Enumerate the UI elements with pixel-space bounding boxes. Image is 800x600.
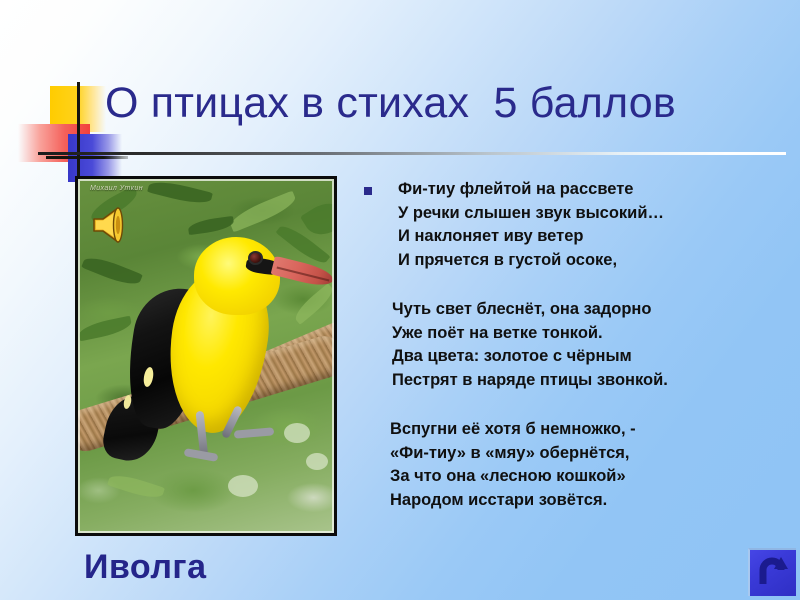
motif-vertical-bar: [77, 82, 80, 178]
bird-photo: Михаил Уткин: [75, 176, 337, 536]
return-button[interactable]: [748, 548, 796, 596]
square-bullet-icon: [364, 187, 372, 195]
poem-block: Фи-тиу флейтой на рассвете У речки слыше…: [364, 178, 794, 512]
bird-foot: [234, 427, 275, 438]
photo-caption: Иволга: [84, 548, 206, 587]
photo-watermark: Михаил Уткин: [90, 185, 143, 192]
decorative-motif: [18, 82, 118, 174]
return-arrow-icon: [750, 550, 794, 594]
bird-foot: [184, 448, 219, 462]
speaker-icon[interactable]: [90, 205, 136, 245]
title-divider: [38, 152, 786, 155]
poem-stanza: Фи-тиу флейтой на рассвете У речки слыше…: [364, 178, 794, 272]
bird-head: [194, 237, 280, 315]
poem-stanza: Чуть свет блеснёт, она задорно Уже поёт …: [364, 298, 794, 392]
page-title: О птицах в стихах 5 баллов: [105, 78, 785, 128]
motif-horizontal-bar: [46, 156, 128, 159]
slide-canvas: О птицах в стихах 5 баллов: [0, 0, 800, 600]
poem-stanza: Вспугни её хотя б немножко, - «Фи-тиу» в…: [364, 418, 794, 512]
bird-eye: [248, 251, 263, 265]
